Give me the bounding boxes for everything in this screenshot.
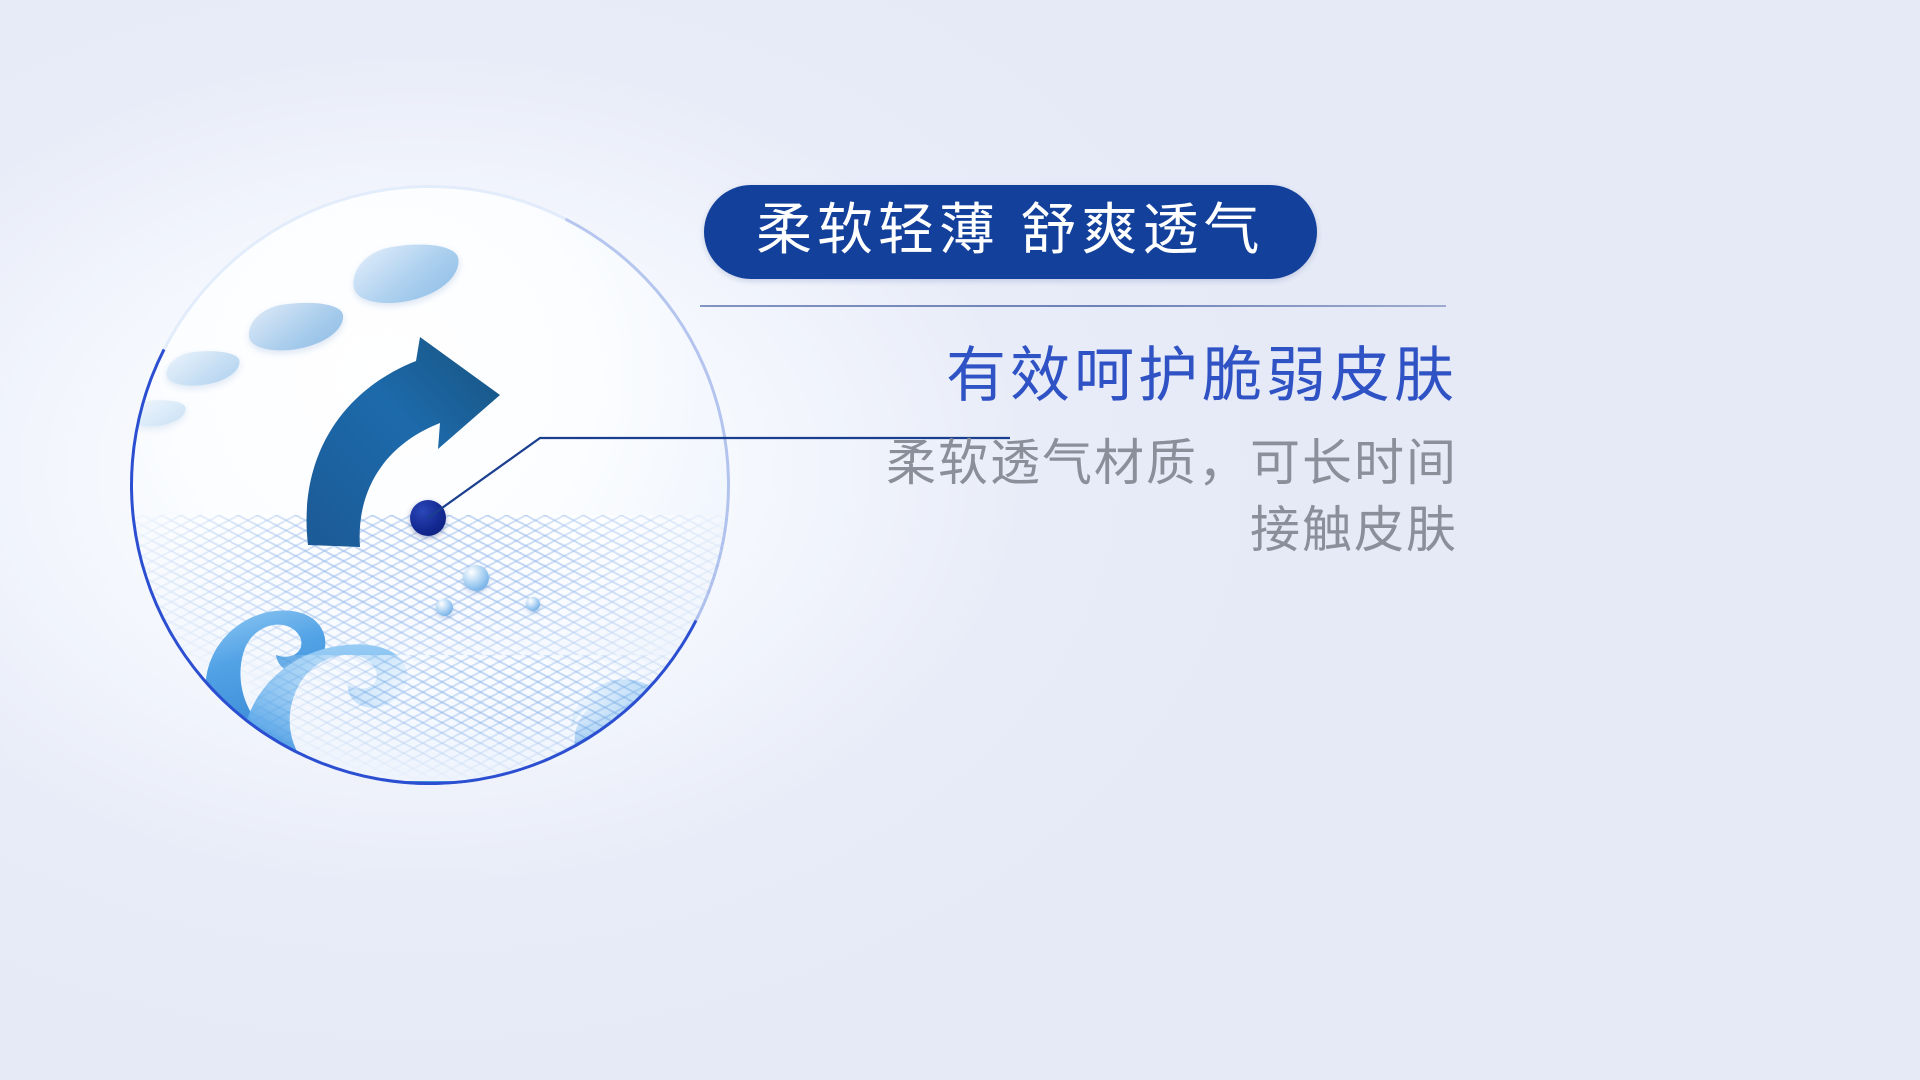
subtitle-block: 柔软透气材质，可长时间 接触皮肤 (700, 430, 1470, 564)
poster-stage: 柔软轻薄 舒爽透气 有效呵护脆弱皮肤 柔软透气材质，可长时间 接触皮肤 (0, 0, 1920, 1080)
product-illustration (110, 150, 730, 750)
subtitle-line-1: 柔软透气材质，可长时间 (700, 430, 1458, 497)
text-column: 柔软轻薄 舒爽透气 有效呵护脆弱皮肤 柔软透气材质，可长时间 接触皮肤 (700, 185, 1470, 564)
bubble-icon (436, 599, 453, 616)
illustration-circle (130, 185, 730, 785)
breathable-mesh-fabric-lower-icon (250, 655, 730, 785)
callout-marker-dot (410, 500, 446, 536)
bubble-icon (463, 565, 489, 591)
subtitle-line-2: 接触皮肤 (700, 497, 1458, 564)
page-title: 有效呵护脆弱皮肤 (700, 341, 1470, 412)
section-divider (700, 305, 1446, 307)
feature-pill-badge: 柔软轻薄 舒爽透气 (704, 185, 1317, 279)
bubble-icon (526, 597, 540, 611)
